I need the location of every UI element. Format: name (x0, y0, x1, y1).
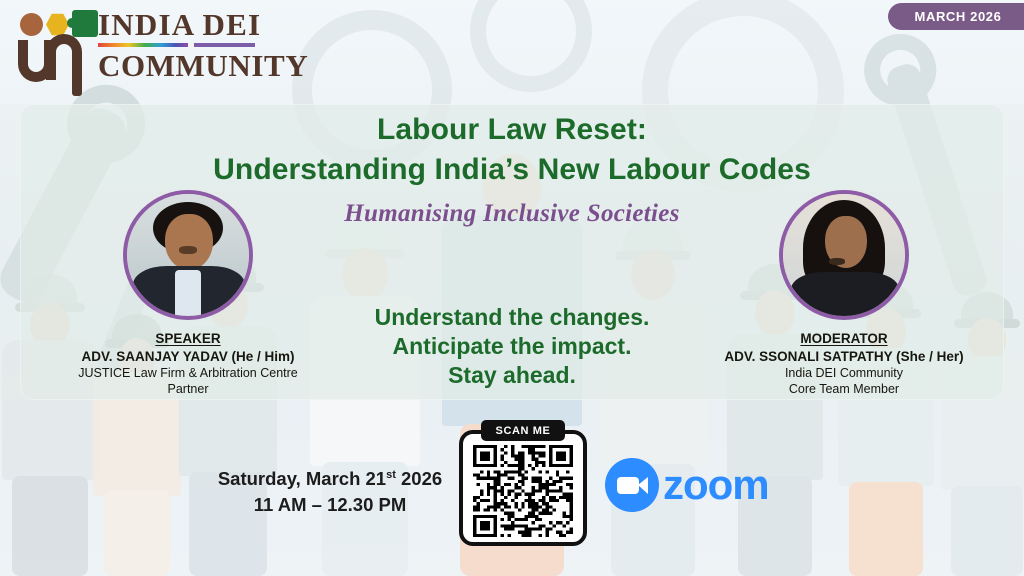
speaker-photo (127, 194, 249, 316)
speaker-role: SPEAKER (58, 331, 318, 346)
circle-mark-icon (20, 13, 43, 36)
speaker-org: JUSTICE Law Firm & Arbitration Centre (58, 366, 318, 380)
moderator-org: India DEI Community (714, 366, 974, 380)
event-datetime: Saturday, March 21st 2026 11 AM – 12.30 … (150, 462, 510, 518)
speaker-title: Partner (58, 382, 318, 396)
logo-wordmark: INDIA DEI COMMUNITY (98, 8, 308, 83)
moderator-title: Core Team Member (714, 382, 974, 396)
moderator-photo (783, 194, 905, 316)
video-camera-icon (605, 458, 659, 512)
speaker-card: SPEAKER ADV. SAANJAY YADAV (He / Him) JU… (58, 190, 318, 396)
event-date-ordinal: st (386, 469, 396, 481)
in-monogram-icon (16, 34, 88, 86)
hexagon-mark-icon (46, 13, 69, 36)
zoom-logo: zoom (605, 456, 765, 514)
key-message: Understand the changes. Anticipate the i… (312, 303, 712, 390)
qr-code-block[interactable]: SCAN ME (459, 420, 587, 546)
scan-me-label: SCAN ME (481, 420, 565, 441)
message-line-1: Understand the changes. (312, 303, 712, 332)
moderator-avatar (779, 190, 909, 320)
logo-community-text: COMMUNITY (98, 49, 308, 83)
title-line-2: Understanding India’s New Labour Codes (0, 150, 1024, 190)
logo-underline (98, 43, 255, 47)
webinar-poster: INDIA DEI COMMUNITY MARCH 2026 Labour La… (0, 0, 1024, 576)
brand-logo[interactable]: INDIA DEI COMMUNITY (14, 8, 254, 88)
moderator-name: ADV. SSONALI SATPATHY (She / Her) (714, 349, 974, 364)
event-date-prefix: Saturday, March 21 (218, 468, 386, 489)
month-badge: MARCH 2026 (888, 3, 1024, 30)
title-line-1: Labour Law Reset: (0, 110, 1024, 150)
message-line-3: Stay ahead. (312, 361, 712, 390)
message-line-2: Anticipate the impact. (312, 332, 712, 361)
gear-shape (470, 0, 592, 92)
logo-india-dei-text: INDIA DEI (98, 8, 308, 42)
puzzle-square-mark-icon (72, 10, 98, 37)
event-date-suffix: 2026 (396, 468, 442, 489)
speaker-avatar (123, 190, 253, 320)
speaker-name: ADV. SAANJAY YADAV (He / Him) (58, 349, 318, 364)
zoom-wordmark: zoom (663, 464, 769, 506)
purple-rule (194, 43, 255, 47)
rainbow-rule (98, 43, 188, 47)
qr-code-image[interactable] (473, 445, 573, 537)
event-time: 11 AM – 12.30 PM (150, 492, 510, 518)
moderator-card: MODERATOR ADV. SSONALI SATPATHY (She / H… (714, 190, 974, 396)
event-date: Saturday, March 21st 2026 (150, 462, 510, 492)
moderator-role: MODERATOR (714, 331, 974, 346)
